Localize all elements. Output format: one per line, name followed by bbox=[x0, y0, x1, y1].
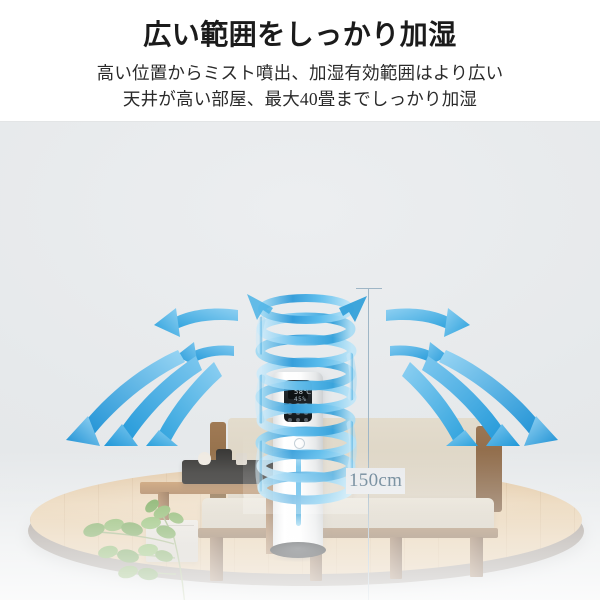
page-title: 広い範囲をしっかり加湿 bbox=[0, 0, 600, 53]
airflow-arrow-icon bbox=[62, 290, 242, 446]
measure-tick-top bbox=[356, 288, 382, 289]
subtitle-line-2: 天井が高い部屋、最大40畳までしっかり加湿 bbox=[0, 86, 600, 112]
sofa-leg bbox=[470, 537, 483, 577]
subtitle-line-1: 高い位置からミスト噴出、加湿有効範囲はより広い bbox=[0, 53, 600, 86]
plant-foliage-icon bbox=[58, 492, 228, 600]
airflow-arrow bbox=[176, 342, 234, 367]
product-feature-banner: 広い範囲をしっかり加湿 高い位置からミスト噴出、加湿有効範囲はより広い 天井が高… bbox=[0, 0, 600, 600]
measure-rule-icon bbox=[368, 288, 369, 600]
device-base bbox=[270, 542, 326, 558]
room-scene-illustration: 58℃ 45% bbox=[0, 122, 600, 600]
banner-header: 広い範囲をしっかり加湿 高い位置からミスト噴出、加湿有効範囲はより広い 天井が高… bbox=[0, 0, 600, 122]
cup bbox=[198, 452, 211, 465]
potted-plant bbox=[58, 492, 228, 600]
height-measurement: 150cm bbox=[352, 282, 412, 600]
airflow-arrows-left bbox=[62, 290, 242, 446]
measurement-label: 150cm bbox=[346, 468, 405, 494]
teapot bbox=[216, 449, 232, 465]
airflow-arrow bbox=[154, 308, 238, 337]
